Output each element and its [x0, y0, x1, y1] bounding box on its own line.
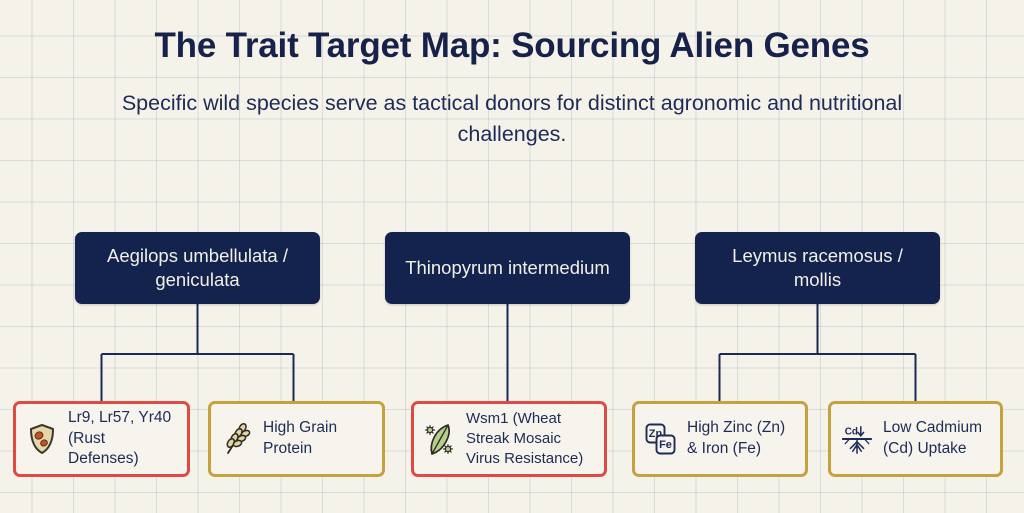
trait-label: High Zinc (Zn) & Iron (Fe) [687, 418, 796, 459]
trait-label: Low Cadmium (Cd) Uptake [883, 418, 991, 459]
cadmium-symbol-text: Cd [845, 426, 858, 437]
cadmium-roots-icon: Cd [840, 419, 874, 459]
donor-box-aegilops[interactable]: Aegilops umbellulata / geniculata [75, 232, 320, 304]
donor-box-leymus[interactable]: Leymus racemosus / mollis [695, 232, 940, 304]
trait-label: High Grain Protein [263, 418, 373, 459]
shield-rust-icon [25, 419, 59, 459]
header: The Trait Target Map: Sourcing Alien Gen… [0, 26, 1024, 149]
page-subtitle: Specific wild species serve as tactical … [72, 88, 952, 149]
wheat-stalk-icon [220, 419, 254, 459]
trait-card-rust-defenses[interactable]: Lr9, Lr57, Yr40 (Rust Defenses) [13, 401, 190, 477]
trait-card-low-cadmium[interactable]: Cd Low Cadmium (Cd) Uptake [828, 401, 1003, 477]
donor-label: Aegilops umbellulata / geniculata [87, 244, 308, 293]
trait-card-high-grain-protein[interactable]: High Grain Protein [208, 401, 385, 477]
page-title: The Trait Target Map: Sourcing Alien Gen… [0, 26, 1024, 66]
connector-leymus [720, 304, 916, 401]
donor-box-thinopyrum[interactable]: Thinopyrum intermedium [385, 232, 630, 304]
trait-card-high-zinc-iron[interactable]: Zn Fe High Zinc (Zn) & Iron (Fe) [632, 401, 808, 477]
infographic-canvas: The Trait Target Map: Sourcing Alien Gen… [0, 0, 1024, 513]
connector-aegilops [102, 304, 294, 401]
element-tiles-icon: Zn Fe [644, 419, 678, 459]
trait-card-wsm1[interactable]: Wsm1 (Wheat Streak Mosaic Virus Resistan… [411, 401, 607, 477]
donor-label: Thinopyrum intermedium [405, 256, 610, 280]
trait-label: Wsm1 (Wheat Streak Mosaic Virus Resistan… [466, 409, 595, 469]
leaf-virus-icon [423, 419, 457, 459]
trait-label: Lr9, Lr57, Yr40 (Rust Defenses) [68, 408, 178, 470]
donor-label: Leymus racemosus / mollis [707, 244, 928, 293]
element-tile-fe-text: Fe [659, 439, 672, 451]
